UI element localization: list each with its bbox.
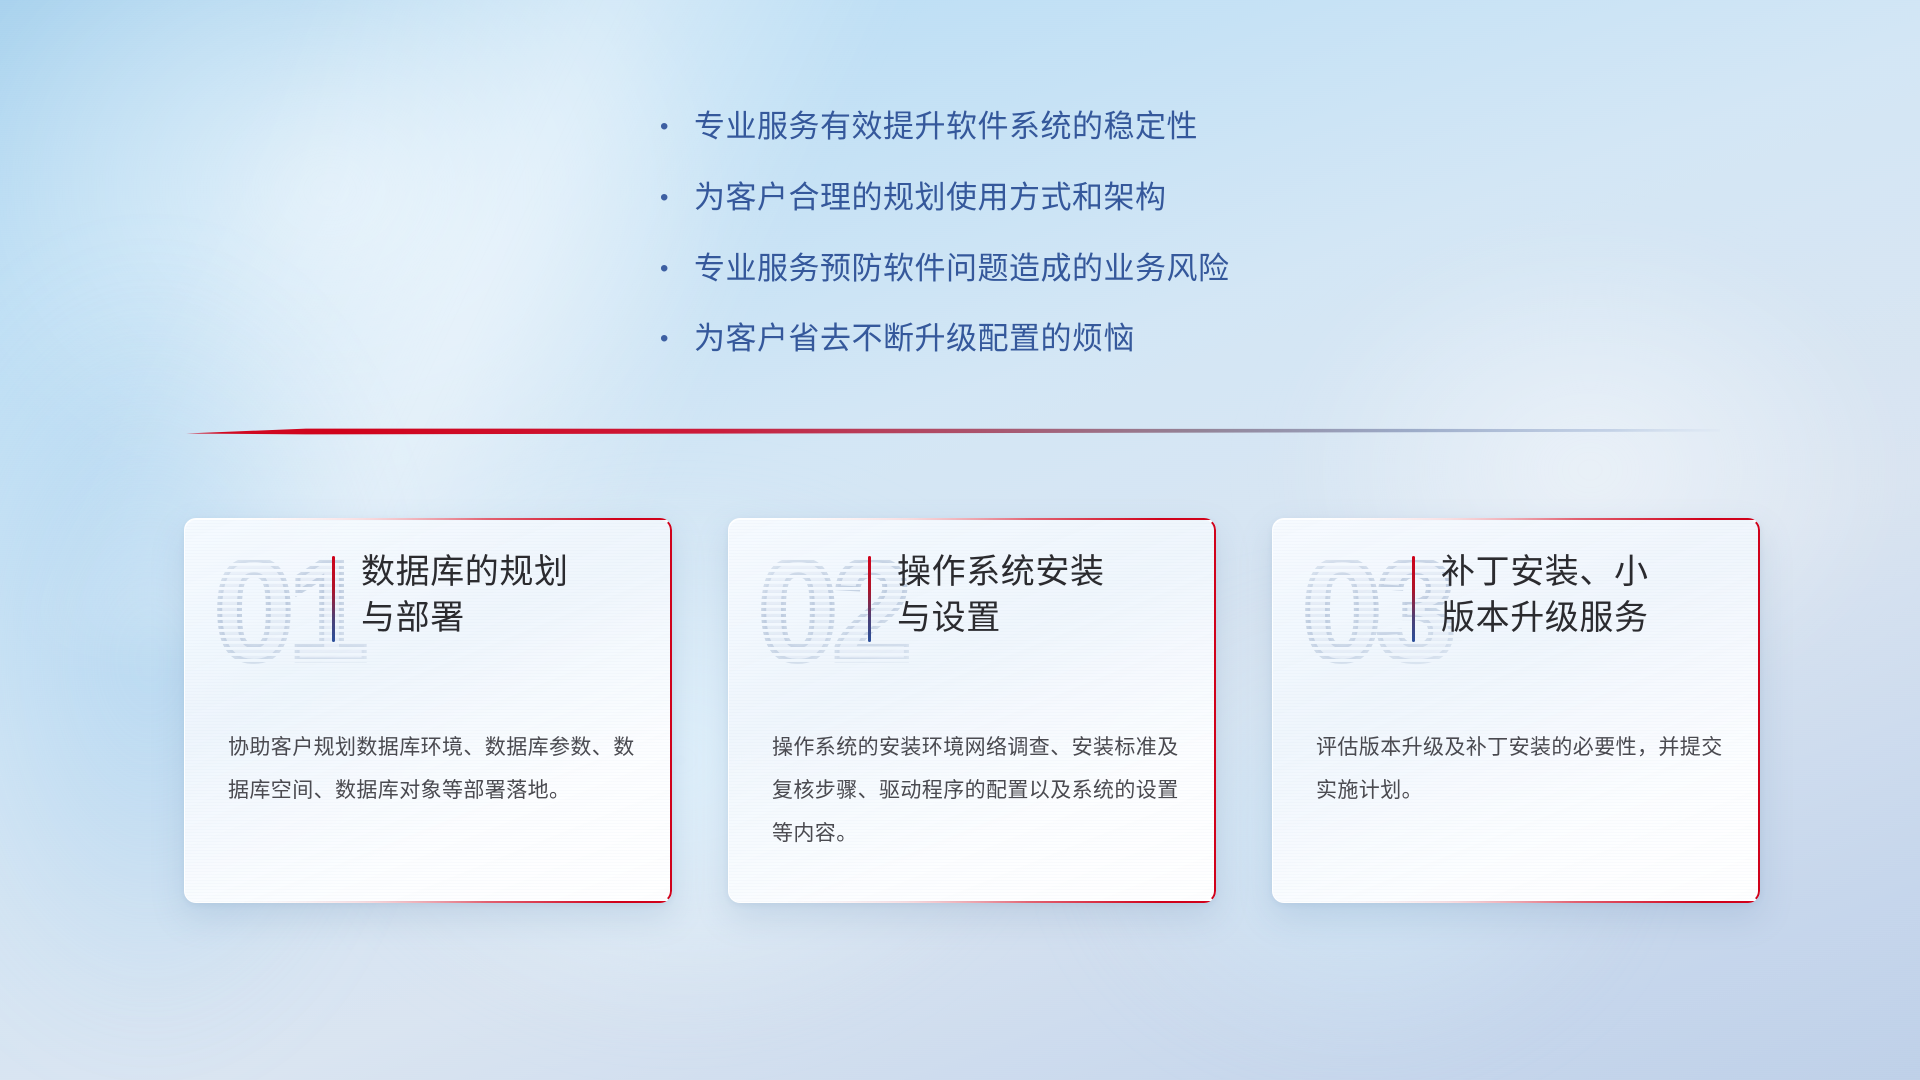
card-description: 协助客户规划数据库环境、数据库参数、数据库空间、数据库对象等部署落地。 (228, 726, 638, 812)
card-title: 操作系统安装 与设置 (897, 550, 1105, 642)
card-description: 操作系统的安装环境网络调查、安装标准及复核步骤、驱动程序的配置以及系统的设置等内… (772, 726, 1182, 855)
bullet-dot-icon: • (660, 257, 694, 281)
service-card[interactable]: 01 01 数据库的规划 与部署 协助客户规划数据库环境、数据库参数、数据库空间… (184, 518, 672, 903)
list-item: • 为客户合理的规划使用方式和架构 (660, 179, 1460, 218)
bullet-text: 为客户合理的规划使用方式和架构 (694, 179, 1167, 218)
card-header: 补丁安装、小 版本升级服务 (1412, 550, 1649, 642)
card-title-rule (868, 556, 871, 642)
tapered-arrow-line-icon (186, 424, 1720, 440)
service-card[interactable]: 03 03 补丁安装、小 版本升级服务 评估版本升级及补丁安装的必要性，并提交实… (1272, 518, 1760, 903)
card-title-rule (1412, 556, 1415, 642)
slide-canvas: • 专业服务有效提升软件系统的稳定性 • 为客户合理的规划使用方式和架构 • 专… (0, 0, 1920, 1080)
bullet-text: 专业服务预防软件问题造成的业务风险 (694, 250, 1230, 289)
list-item: • 为客户省去不断升级配置的烦恼 (660, 320, 1460, 359)
card-title-rule (332, 556, 335, 642)
service-card-row: 01 01 数据库的规划 与部署 协助客户规划数据库环境、数据库参数、数据库空间… (184, 518, 1760, 910)
card-title: 数据库的规划 与部署 (361, 550, 569, 642)
card-header: 数据库的规划 与部署 (332, 550, 569, 642)
list-item: • 专业服务有效提升软件系统的稳定性 (660, 108, 1460, 147)
bullet-dot-icon: • (660, 115, 694, 139)
bullet-text: 专业服务有效提升软件系统的稳定性 (694, 108, 1198, 147)
card-header: 操作系统安装 与设置 (868, 550, 1105, 642)
card-description: 评估版本升级及补丁安装的必要性，并提交实施计划。 (1316, 726, 1726, 812)
bullet-dot-icon: • (660, 186, 694, 210)
card-title: 补丁安装、小 版本升级服务 (1441, 550, 1649, 642)
list-item: • 专业服务预防软件问题造成的业务风险 (660, 250, 1460, 289)
benefits-bullet-list: • 专业服务有效提升软件系统的稳定性 • 为客户合理的规划使用方式和架构 • 专… (660, 108, 1460, 391)
bullet-dot-icon: • (660, 327, 694, 351)
service-card[interactable]: 02 02 操作系统安装 与设置 操作系统的安装环境网络调查、安装标准及复核步骤… (728, 518, 1216, 903)
section-divider (186, 424, 1720, 440)
bullet-text: 为客户省去不断升级配置的烦恼 (694, 320, 1135, 359)
